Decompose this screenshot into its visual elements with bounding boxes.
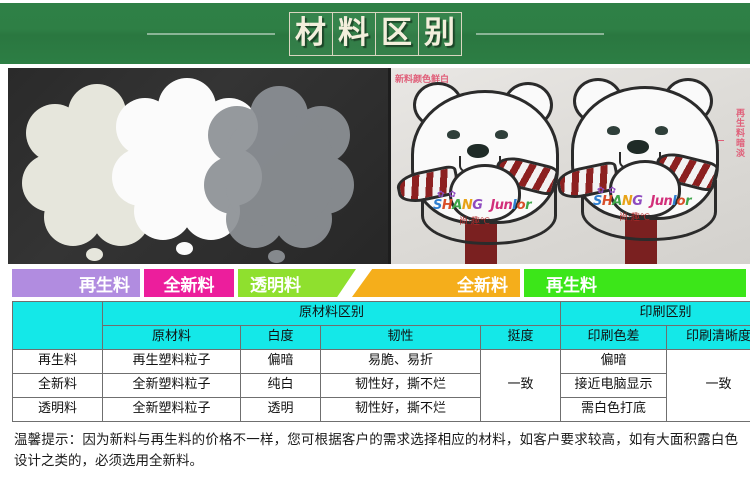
- column-header-clarity: 印刷清晰度: [667, 326, 750, 350]
- column-header-raw: 原材料: [103, 326, 241, 350]
- cell-raw-recycled: 再生塑料粒子: [103, 350, 241, 374]
- annotation-recycled-material: 再生料暗淡: [733, 108, 746, 158]
- brand-sub-logo: 尚·趣℃: [619, 210, 650, 223]
- title-char-1: 材: [290, 13, 333, 55]
- photo-printed-fans-canvas: 新料颜色鲜白 再生料暗淡 ✿✿ SHANG Jun: [388, 68, 750, 264]
- photo-strip: 新料颜色鲜白 再生料暗淡 ✿✿ SHANG Jun: [0, 64, 750, 267]
- table-row: 全新料 全新塑料粒子 纯白 韧性好，撕不烂 接近电脑显示: [13, 374, 750, 398]
- cell-stiffness-all: 一致: [481, 350, 561, 422]
- table-corner-cell: [13, 302, 103, 350]
- banner-recycled-2: 再生料: [524, 269, 746, 297]
- cell-whiteness-recycled: 偏暗: [241, 350, 321, 374]
- group-header-raw-material: 原材料区别: [103, 302, 561, 326]
- printed-fan-recycled: ✿✿ SHANG JunIor 尚·趣℃: [567, 82, 717, 242]
- row-label-new: 全新料: [13, 374, 103, 398]
- fan-blank-transparent: [204, 86, 354, 254]
- header-rule-left: [147, 33, 275, 35]
- cell-raw-transparent: 全新塑料粒子: [103, 398, 241, 422]
- photo-printed-fans: 新料颜色鲜白 再生料暗淡 ✿✿ SHANG Jun: [388, 64, 750, 267]
- material-comparison-table: 原材料区别 印刷区别 原材料 白度 韧性 挺度 印刷色差 印刷清晰度 再生料 再…: [12, 301, 750, 422]
- photo-blank-fans: [0, 64, 388, 267]
- header-rule-right: [476, 33, 604, 35]
- cell-toughness-recycled: 易脆、易折: [321, 350, 481, 374]
- table-group-header-row: 原材料区别 印刷区别: [13, 302, 750, 326]
- page-header: 材 料 区 别: [0, 0, 750, 64]
- column-header-stiffness: 挺度: [481, 326, 561, 350]
- page-title: 材 料 区 别: [289, 12, 462, 56]
- title-char-4: 别: [419, 13, 461, 55]
- banner-transparent: 透明料: [238, 269, 356, 297]
- spec-table-wrap: 原材料区别 印刷区别 原材料 白度 韧性 挺度 印刷色差 印刷清晰度 再生料 再…: [0, 299, 750, 422]
- cell-whiteness-transparent: 透明: [241, 398, 321, 422]
- cell-clarity-all: 一致: [667, 350, 750, 422]
- bear-eye-right: [495, 130, 508, 139]
- cell-raw-new: 全新塑料粒子: [103, 374, 241, 398]
- cell-colordiff-new: 接近电脑显示: [561, 374, 667, 398]
- cell-colordiff-transparent: 需白色打底: [561, 398, 667, 422]
- column-header-whiteness: 白度: [241, 326, 321, 350]
- group-header-printing: 印刷区别: [561, 302, 750, 326]
- cell-colordiff-recycled: 偏暗: [561, 350, 667, 374]
- material-label-banners: 再生料 全新料 透明料 全新料 再生料: [0, 269, 750, 299]
- cell-toughness-transparent: 韧性好，撕不烂: [321, 398, 481, 422]
- table-row: 透明料 全新塑料粒子 透明 韧性好，撕不烂 需白色打底: [13, 398, 750, 422]
- header-inner: 材 料 区 别: [0, 3, 750, 64]
- photo-blank-fans-canvas: [8, 68, 388, 264]
- column-header-color-diff: 印刷色差: [561, 326, 667, 350]
- brand-logo: SHANG JunIor: [433, 198, 531, 213]
- bear-eye-left: [607, 126, 620, 135]
- title-char-2: 料: [333, 13, 376, 55]
- column-header-toughness: 韧性: [321, 326, 481, 350]
- cell-toughness-new: 韧性好，撕不烂: [321, 374, 481, 398]
- title-char-3: 区: [376, 13, 419, 55]
- bear-eye-left: [447, 130, 460, 139]
- footer-note: 温馨提示：因为新料与再生料的价格不一样，您可根据客户的需求选择相应的材料，如客户…: [0, 422, 750, 472]
- banner-new-2: 全新料: [352, 269, 520, 297]
- banner-new-1: 全新料: [144, 269, 234, 297]
- row-label-transparent: 透明料: [13, 398, 103, 422]
- banner-recycled-1: 再生料: [12, 269, 140, 297]
- brand-sub-logo: 尚·趣℃: [459, 214, 490, 227]
- printed-fan-new: ✿✿ SHANG JunIor 尚·趣℃: [407, 86, 557, 246]
- row-label-recycled: 再生料: [13, 350, 103, 374]
- bear-eye-right: [655, 126, 668, 135]
- brand-logo: SHANG JunIor: [593, 194, 691, 209]
- table-column-header-row: 原材料 白度 韧性 挺度 印刷色差 印刷清晰度: [13, 326, 750, 350]
- table-row: 再生料 再生塑料粒子 偏暗 易脆、易折 一致 偏暗 一致: [13, 350, 750, 374]
- cell-whiteness-new: 纯白: [241, 374, 321, 398]
